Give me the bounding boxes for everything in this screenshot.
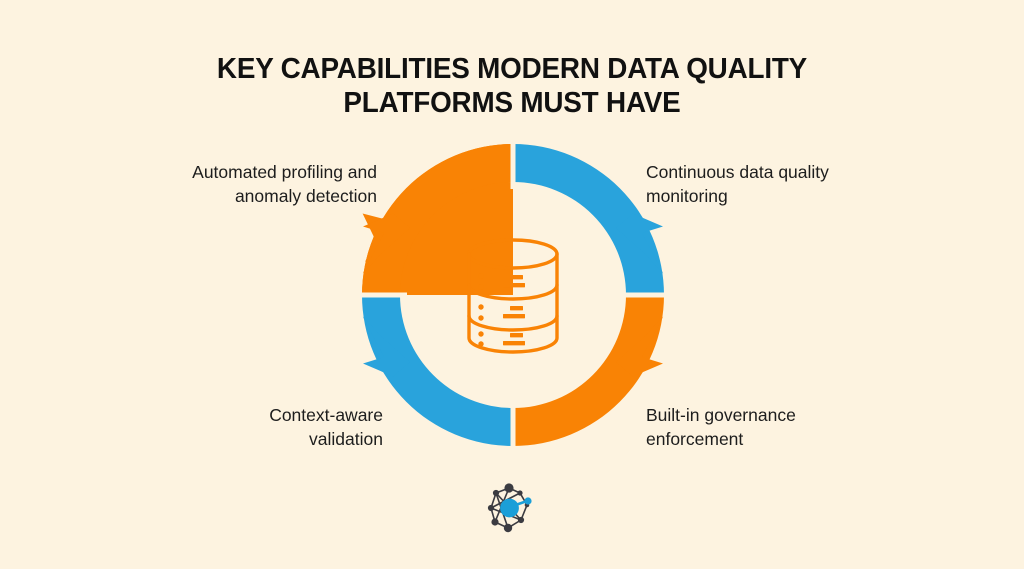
callout-label-top-left: Automated profiling and anomaly detectio… — [95, 160, 377, 208]
callout-label-bottom-right: Built-in governance enforcement — [646, 403, 936, 451]
database-icon — [455, 235, 571, 357]
title-line-1: KEY CAPABILITIES MODERN DATA QUALITY — [20, 52, 1003, 86]
page-title: KEY CAPABILITIES MODERN DATA QUALITY PLA… — [0, 52, 1024, 120]
callout-label-top-right: Continuous data quality monitoring — [646, 160, 936, 208]
infographic-canvas: KEY CAPABILITIES MODERN DATA QUALITY PLA… — [0, 0, 1024, 569]
database-detail-marks — [478, 273, 525, 346]
callout-label-bottom-left: Context-aware validation — [100, 403, 383, 451]
network-nodes-logo-svg — [483, 482, 543, 536]
network-nodes-logo — [483, 482, 543, 536]
database-icon-svg — [455, 235, 571, 357]
